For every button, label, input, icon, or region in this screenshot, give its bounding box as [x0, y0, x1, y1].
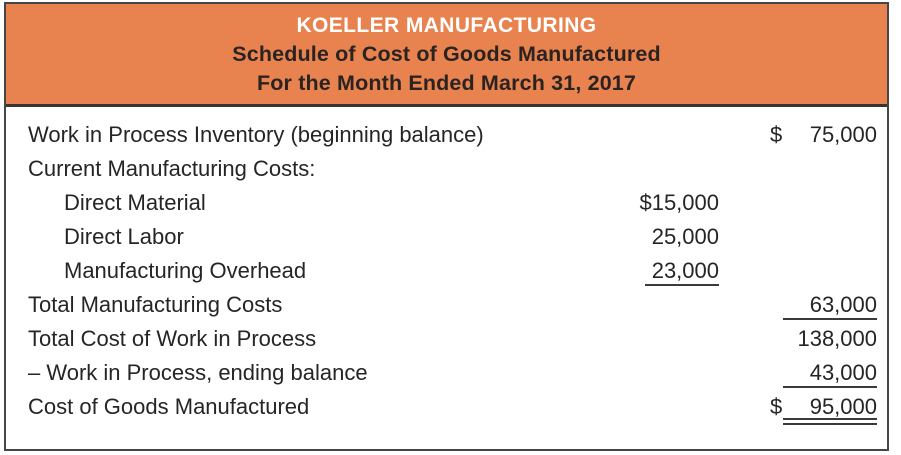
statement-row: Total Cost of Work in Process138,000 — [6, 322, 887, 356]
company-name: KOELLER MANUFACTURING — [6, 11, 887, 40]
statement-row: – Work in Process, ending balance43,000 — [6, 356, 887, 390]
row-amount-total: 43,000 — [725, 356, 877, 390]
row-amount-total: 63,000 — [725, 288, 877, 322]
row-label: – Work in Process, ending balance — [28, 356, 368, 390]
statement-body: Work in Process Inventory (beginning bal… — [6, 107, 887, 424]
statement-row: Work in Process Inventory (beginning bal… — [6, 118, 887, 152]
statement-row: Direct Material$15,000 — [6, 186, 887, 220]
statement-row: Total Manufacturing Costs63,000 — [6, 288, 887, 322]
statement-row: Direct Labor25,000 — [6, 220, 887, 254]
row-amount-total: 95,000 — [725, 390, 877, 424]
statement-period: For the Month Ended March 31, 2017 — [6, 69, 887, 98]
row-amount-inner: 23,000 — [567, 254, 719, 288]
row-amount-inner: $15,000 — [567, 186, 719, 220]
row-label: Manufacturing Overhead — [64, 254, 306, 288]
statement-row: Manufacturing Overhead23,000 — [6, 254, 887, 288]
row-amount-total: 138,000 — [725, 322, 877, 356]
statement-row: Current Manufacturing Costs: — [6, 152, 887, 186]
row-label: Current Manufacturing Costs: — [28, 152, 315, 186]
statement-header: KOELLER MANUFACTURING Schedule of Cost o… — [6, 4, 887, 107]
cost-of-goods-manufactured-statement: KOELLER MANUFACTURING Schedule of Cost o… — [4, 2, 889, 451]
row-label: Total Cost of Work in Process — [28, 322, 316, 356]
statement-row: Cost of Goods Manufactured$95,000 — [6, 390, 887, 424]
row-label: Direct Labor — [64, 220, 184, 254]
statement-title: Schedule of Cost of Goods Manufactured — [6, 40, 887, 69]
row-label: Total Manufacturing Costs — [28, 288, 282, 322]
row-label: Cost of Goods Manufactured — [28, 390, 309, 424]
row-label: Direct Material — [64, 186, 206, 220]
row-label: Work in Process Inventory (beginning bal… — [28, 118, 484, 152]
row-amount-total: 75,000 — [725, 118, 877, 152]
row-amount-inner: 25,000 — [567, 220, 719, 254]
